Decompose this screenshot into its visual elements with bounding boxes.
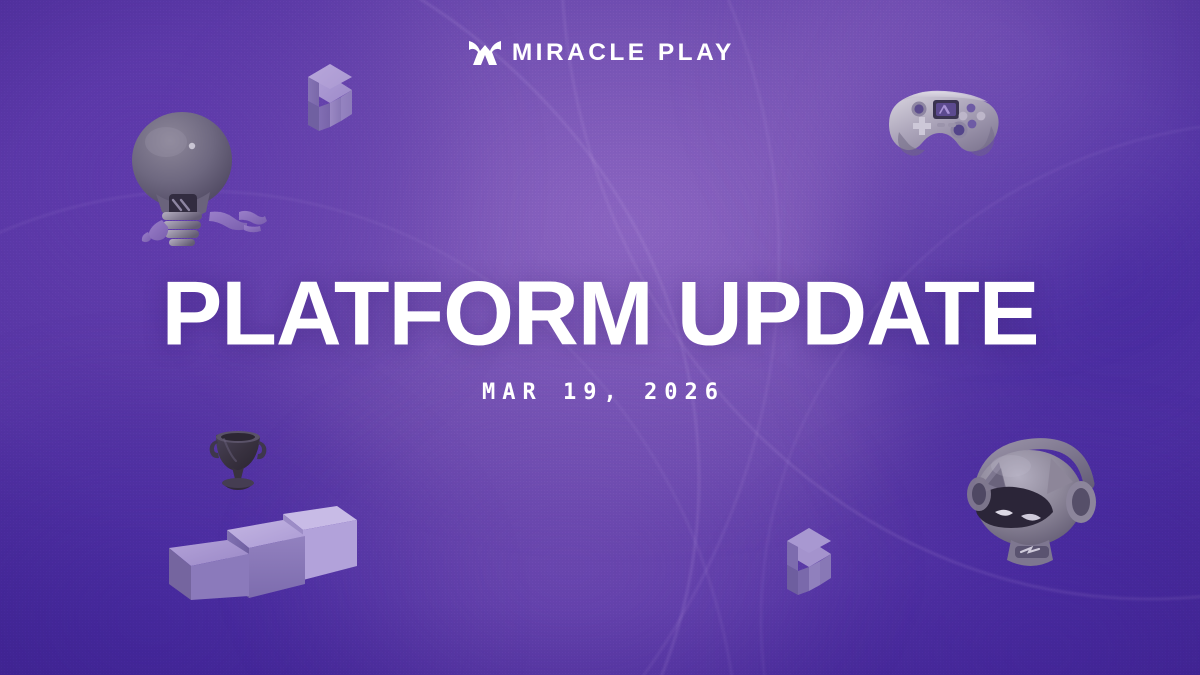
page-title: PLATFORM UPDATE	[0, 273, 1200, 357]
miracle-play-m-logo-icon	[468, 38, 502, 68]
isometric-cross-block-icon	[762, 522, 857, 617]
background-glow-center	[120, 0, 1140, 510]
hero-text-block: PLATFORM UPDATE MAR 19, 2026	[0, 275, 1200, 405]
background-glow-lower-center	[180, 360, 960, 675]
background-glow-top-left	[0, 0, 550, 500]
background-glow-bottom-right	[700, 400, 1200, 675]
podium-blocks-icon	[165, 492, 360, 602]
game-controller-icon	[877, 76, 1013, 174]
platform-update-banner: MIRACLE PLAY PLATFORM UPDATE MAR 19, 202…	[0, 0, 1200, 675]
isometric-cross-block-icon	[283, 58, 378, 153]
trophy-icon	[198, 425, 278, 505]
release-date: MAR 19, 2026	[0, 380, 1200, 405]
robot-cat-headphones-icon	[955, 432, 1105, 577]
lightbulb-character-icon	[118, 108, 268, 248]
brand-lockup: MIRACLE PLAY	[0, 38, 1200, 68]
brand-wordmark: MIRACLE PLAY	[512, 39, 735, 67]
